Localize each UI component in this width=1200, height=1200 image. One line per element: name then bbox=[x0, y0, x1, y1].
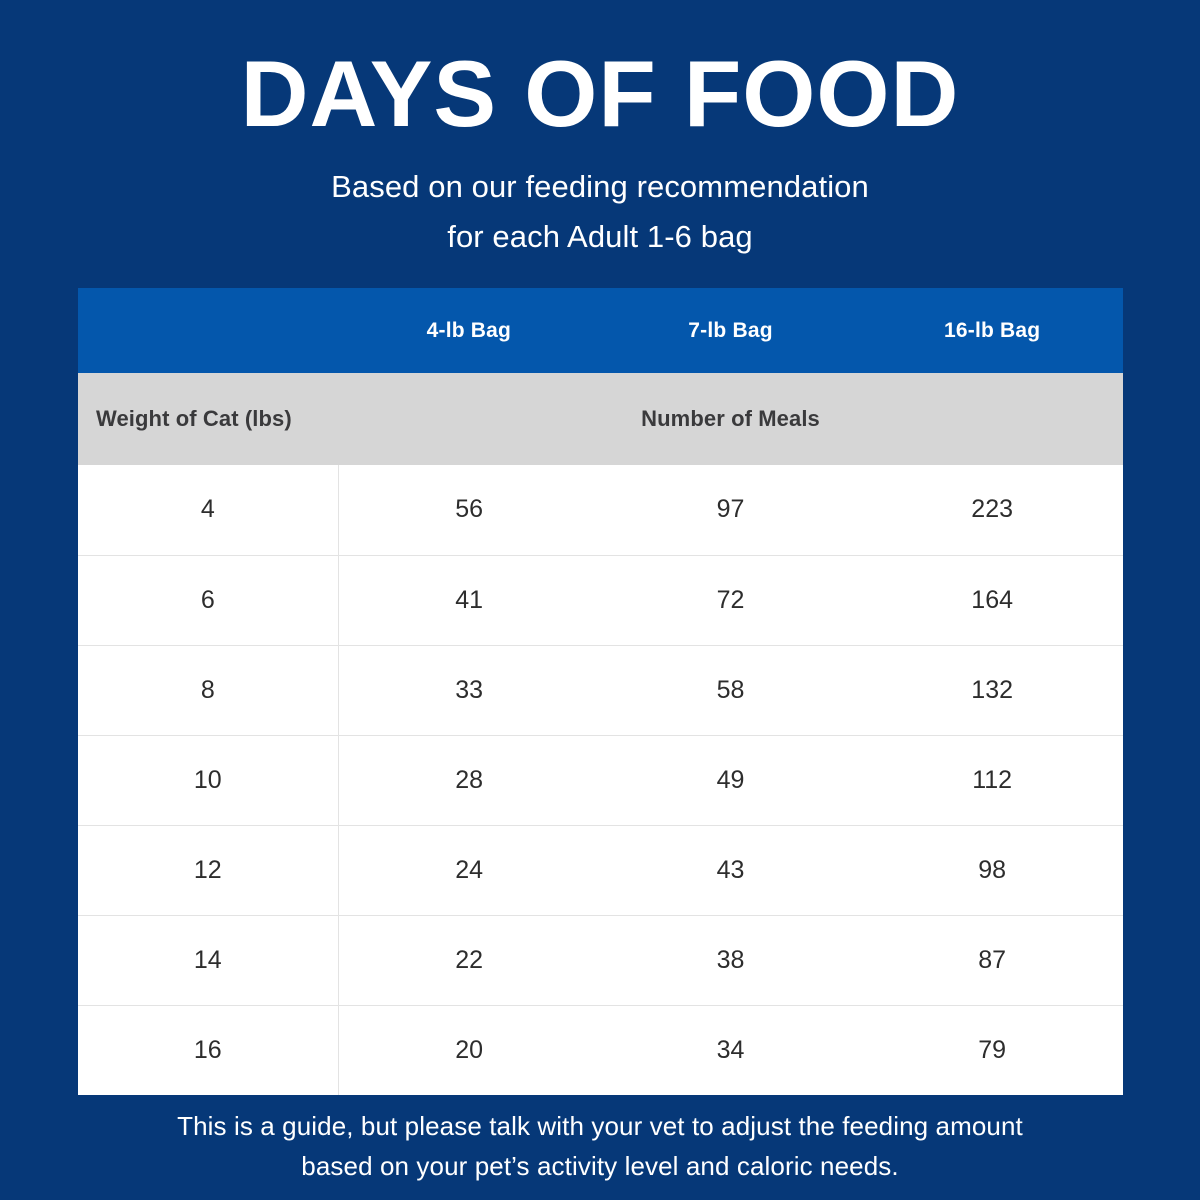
column-header-weight-of-cat: Weight of Cat (lbs) bbox=[78, 373, 338, 465]
group-header-row: Weight of Cat (lbs) Number of Meals bbox=[78, 373, 1123, 465]
table-row: 12 24 43 98 bbox=[78, 825, 1123, 915]
cell-weight: 4 bbox=[78, 465, 338, 555]
subtitle-line-1: Based on our feeding recommendation bbox=[0, 162, 1200, 212]
cell-meals-4lb: 41 bbox=[338, 555, 600, 645]
cell-meals-16lb: 79 bbox=[861, 1005, 1123, 1095]
cell-meals-16lb: 112 bbox=[861, 735, 1123, 825]
cell-meals-16lb: 98 bbox=[861, 825, 1123, 915]
cell-weight: 8 bbox=[78, 645, 338, 735]
table-row: 8 33 58 132 bbox=[78, 645, 1123, 735]
cell-meals-4lb: 20 bbox=[338, 1005, 600, 1095]
header-block: DAYS OF FOOD Based on our feeding recomm… bbox=[0, 0, 1200, 262]
cell-meals-4lb: 56 bbox=[338, 465, 600, 555]
subtitle-line-2: for each Adult 1-6 bag bbox=[0, 212, 1200, 262]
footer-line-2: based on your pet’s activity level and c… bbox=[0, 1147, 1200, 1187]
cell-meals-7lb: 49 bbox=[600, 735, 862, 825]
bag-size-header-row: 4-lb Bag 7-lb Bag 16-lb Bag bbox=[78, 288, 1123, 373]
cell-meals-7lb: 34 bbox=[600, 1005, 862, 1095]
cell-weight: 12 bbox=[78, 825, 338, 915]
page-title: DAYS OF FOOD bbox=[0, 46, 1200, 142]
cell-weight: 6 bbox=[78, 555, 338, 645]
footer-disclaimer: This is a guide, but please talk with yo… bbox=[0, 1107, 1200, 1186]
cell-meals-4lb: 24 bbox=[338, 825, 600, 915]
page-subtitle: Based on our feeding recommendation for … bbox=[0, 162, 1200, 262]
cell-meals-7lb: 72 bbox=[600, 555, 862, 645]
column-header-bag-16lb: 16-lb Bag bbox=[861, 288, 1123, 373]
cell-meals-16lb: 132 bbox=[861, 645, 1123, 735]
cell-weight: 14 bbox=[78, 915, 338, 1005]
cell-meals-16lb: 164 bbox=[861, 555, 1123, 645]
column-header-bag-7lb: 7-lb Bag bbox=[600, 288, 862, 373]
table-row: 4 56 97 223 bbox=[78, 465, 1123, 555]
cell-meals-16lb: 223 bbox=[861, 465, 1123, 555]
column-header-bag-4lb: 4-lb Bag bbox=[338, 288, 600, 373]
table-head: 4-lb Bag 7-lb Bag 16-lb Bag Weight of Ca… bbox=[78, 288, 1123, 465]
table-row: 6 41 72 164 bbox=[78, 555, 1123, 645]
cell-meals-4lb: 22 bbox=[338, 915, 600, 1005]
cell-meals-7lb: 43 bbox=[600, 825, 862, 915]
days-of-food-infographic: DAYS OF FOOD Based on our feeding recomm… bbox=[0, 0, 1200, 1200]
table-row: 14 22 38 87 bbox=[78, 915, 1123, 1005]
table-row: 10 28 49 112 bbox=[78, 735, 1123, 825]
footer-line-1: This is a guide, but please talk with yo… bbox=[0, 1107, 1200, 1147]
cell-meals-16lb: 87 bbox=[861, 915, 1123, 1005]
cell-weight: 16 bbox=[78, 1005, 338, 1095]
cell-meals-7lb: 97 bbox=[600, 465, 862, 555]
table-row: 16 20 34 79 bbox=[78, 1005, 1123, 1095]
feeding-table-container: 4-lb Bag 7-lb Bag 16-lb Bag Weight of Ca… bbox=[78, 288, 1123, 1095]
cell-meals-4lb: 28 bbox=[338, 735, 600, 825]
cell-meals-7lb: 58 bbox=[600, 645, 862, 735]
feeding-guide-table: 4-lb Bag 7-lb Bag 16-lb Bag Weight of Ca… bbox=[78, 288, 1123, 1095]
table-body: 4 56 97 223 6 41 72 164 8 33 58 132 bbox=[78, 465, 1123, 1095]
cell-weight: 10 bbox=[78, 735, 338, 825]
cell-meals-4lb: 33 bbox=[338, 645, 600, 735]
cell-meals-7lb: 38 bbox=[600, 915, 862, 1005]
column-header-number-of-meals: Number of Meals bbox=[338, 373, 1123, 465]
bag-header-blank-cell bbox=[78, 288, 338, 373]
